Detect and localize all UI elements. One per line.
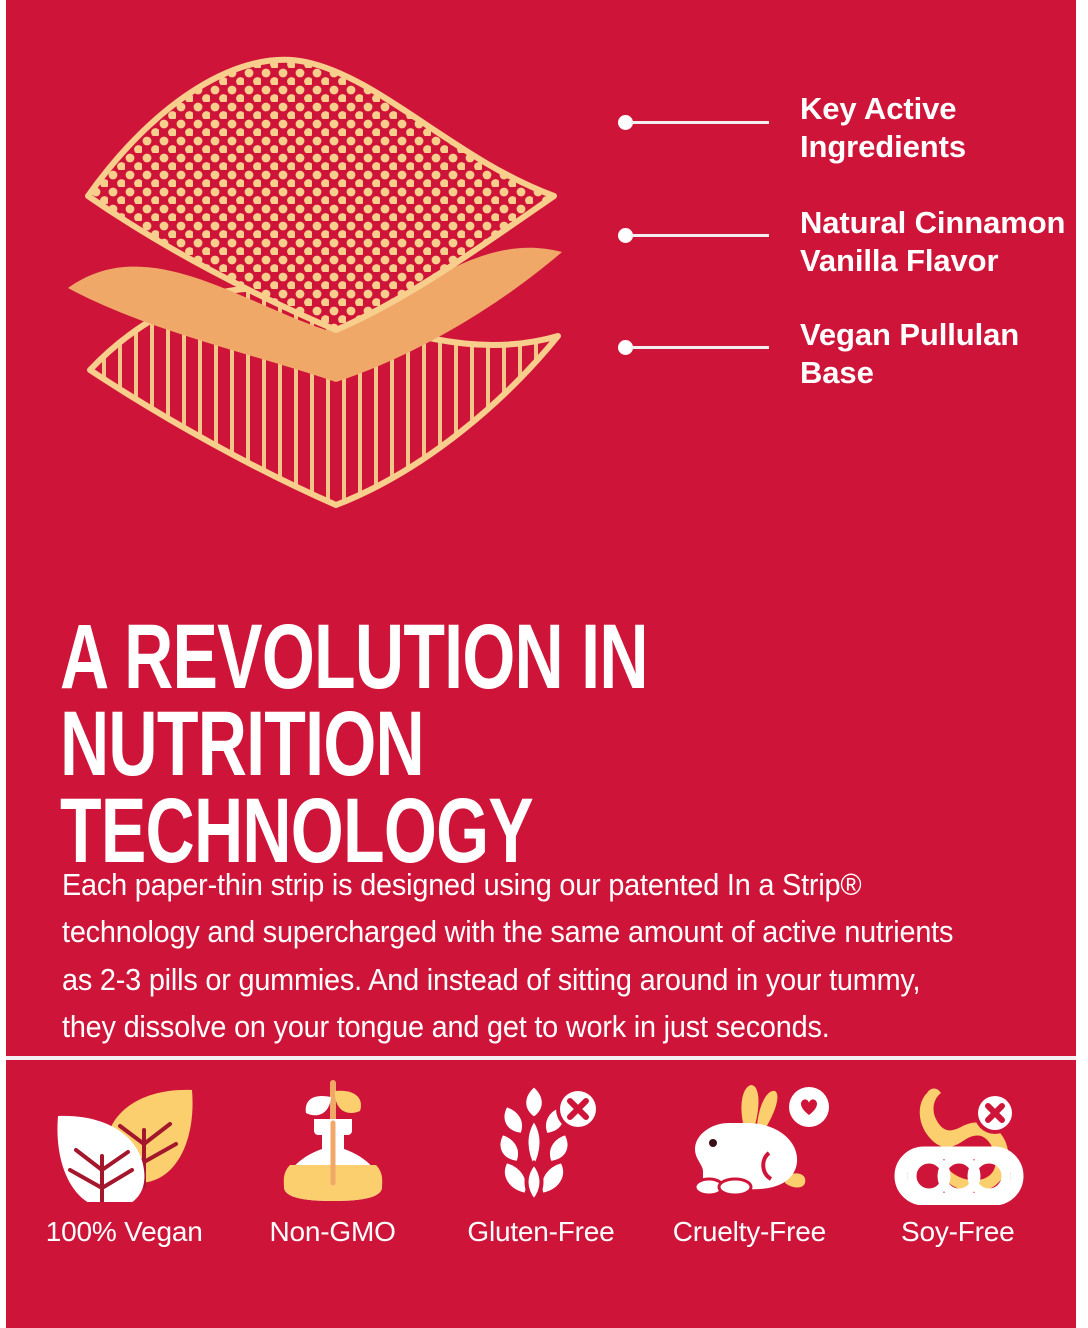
callout-label-3: Vegan Pullulan Base: [800, 316, 1019, 392]
two-leaves-icon: [44, 1078, 204, 1206]
product-infographic-poster: Key Active Ingredients Natural Cinnamon …: [6, 0, 1076, 1328]
callout-natural-cinnamon-vanilla-flavor: Natural Cinnamon Vanilla Flavor: [618, 188, 1076, 298]
body-paragraph: Each paper-thin strip is designed using …: [62, 861, 973, 1051]
leader-line-3: [618, 340, 769, 355]
callout-label-1: Key Active Ingredients: [800, 90, 966, 166]
leader-line: [631, 346, 769, 349]
flask-sprout-icon: [268, 1078, 398, 1206]
wheat-no-icon: [476, 1078, 606, 1206]
badge-100-vegan: 100% Vegan: [29, 1078, 219, 1248]
leader-line-2: [618, 228, 769, 243]
badge-label-cruelty-free: Cruelty-Free: [673, 1216, 826, 1248]
badge-label-gluten-free: Gluten-Free: [467, 1216, 614, 1248]
callout-label-2: Natural Cinnamon Vanilla Flavor: [800, 204, 1065, 280]
layered-dissolvable-strip-illustration: [6, 0, 626, 520]
callout-key-active-ingredients: Key Active Ingredients: [618, 70, 1076, 188]
badge-soy-free: Soy-Free: [863, 1078, 1053, 1248]
page-headline: A REVOLUTION IN NUTRITION TECHNOLOGY: [60, 614, 785, 876]
section-divider: [6, 1056, 1076, 1060]
leader-line: [631, 234, 769, 237]
soy-pod-no-icon: [883, 1078, 1033, 1206]
badge-non-gmo: Non-GMO: [238, 1078, 428, 1248]
leader-line-1: [618, 115, 769, 130]
badge-label-soy-free: Soy-Free: [901, 1216, 1015, 1248]
rabbit-heart-icon: [669, 1078, 829, 1206]
certification-badge-row: 100% Vegan Non-GMO: [6, 1078, 1076, 1298]
badge-label-non-gmo: Non-GMO: [269, 1216, 395, 1248]
callout-vegan-pullulan-base: Vegan Pullulan Base: [618, 298, 1076, 408]
badge-gluten-free: Gluten-Free: [446, 1078, 636, 1248]
badge-label-100-vegan: 100% Vegan: [46, 1216, 203, 1248]
leader-line: [631, 121, 769, 124]
ingredient-callouts: Key Active Ingredients Natural Cinnamon …: [618, 70, 1076, 408]
badge-cruelty-free: Cruelty-Free: [654, 1078, 844, 1248]
